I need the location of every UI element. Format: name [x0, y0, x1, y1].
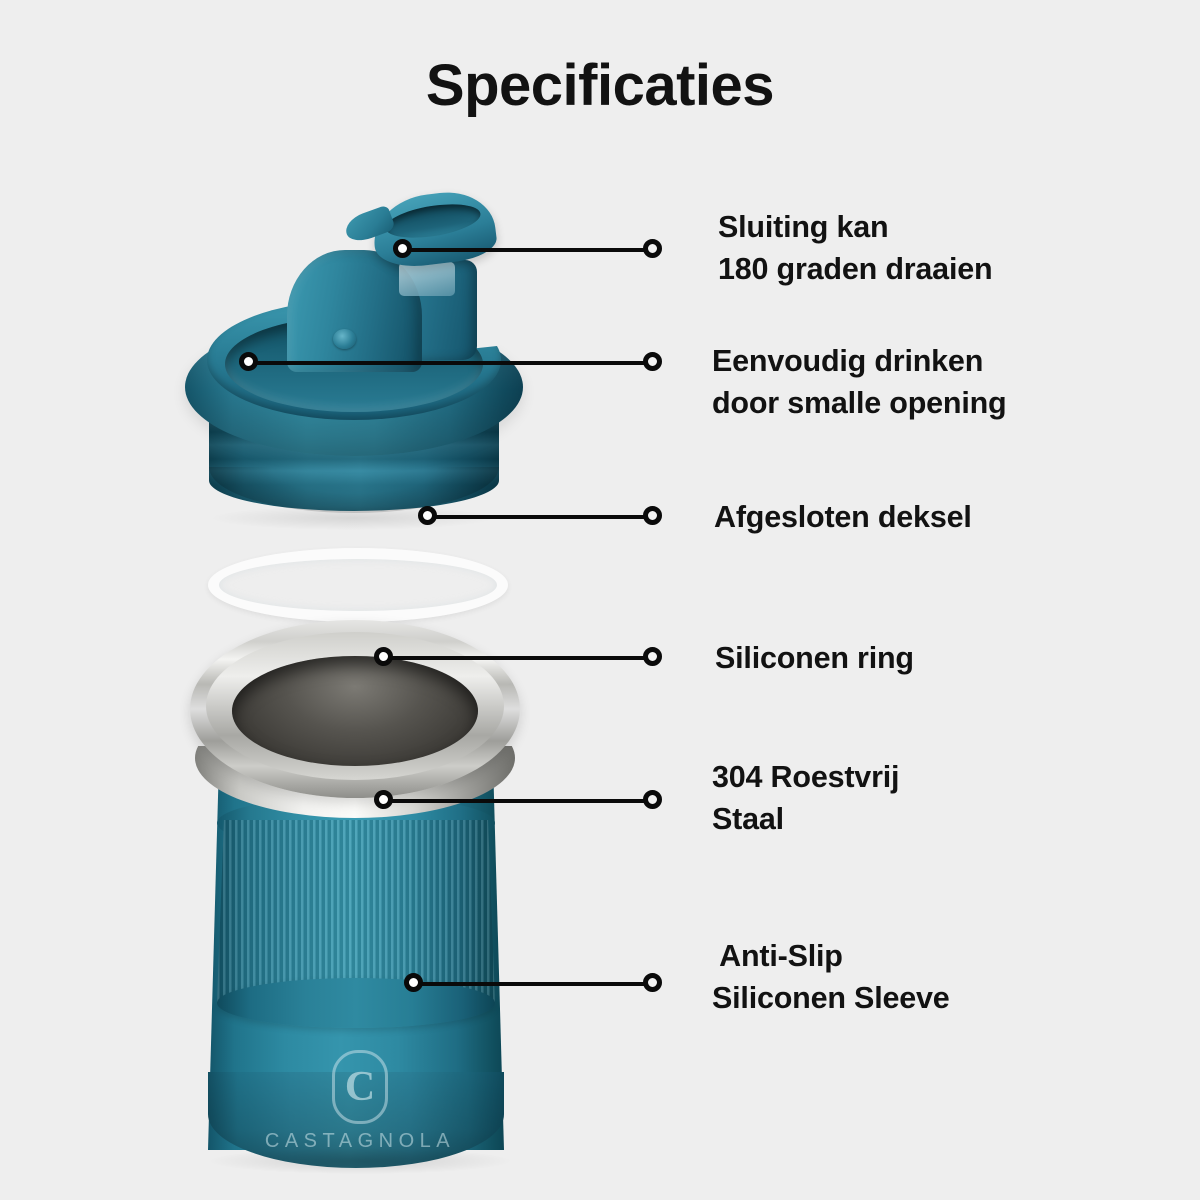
callout-leader-line-anti-slip-sleeve — [411, 982, 652, 986]
callout-leader-line-easy-drinking — [248, 361, 652, 365]
callout-label-line1-silicone-ring: Siliconen ring — [715, 637, 914, 679]
callout-label-line2-anti-slip-sleeve: Siliconen Sleeve — [712, 977, 950, 1019]
callout-label-stainless-steel: 304 RoestvrijStaal — [712, 756, 899, 840]
callout-anchor-dot-rotating-closure — [393, 239, 412, 258]
anti-slip-sleeve — [217, 820, 495, 1002]
callout-label-anti-slip-sleeve: Anti-SlipSiliconen Sleeve — [712, 935, 950, 1019]
silicone-ring — [208, 548, 508, 622]
infographic-canvas: Specificaties — [0, 0, 1200, 1200]
callout-anchor-dot-stainless-steel — [374, 790, 393, 809]
callout-end-dot-easy-drinking — [643, 352, 662, 371]
callout-anchor-dot-easy-drinking — [239, 352, 258, 371]
callout-label-line2-stainless-steel: Staal — [712, 798, 899, 840]
callout-label-line2-rotating-closure: 180 graden draaien — [718, 248, 992, 290]
callout-label-easy-drinking: Eenvoudig drinkendoor smalle opening — [712, 340, 1006, 424]
callout-end-dot-stainless-steel — [643, 790, 662, 809]
callout-label-silicone-ring: Siliconen ring — [715, 637, 914, 679]
callout-end-dot-anti-slip-sleeve — [643, 973, 662, 992]
callout-anchor-dot-silicone-ring — [374, 647, 393, 666]
lid-pivot-stud — [333, 329, 356, 349]
callout-label-line2-easy-drinking: door smalle opening — [712, 382, 1006, 424]
cup-drop-shadow — [210, 1148, 510, 1174]
callout-leader-line-silicone-ring — [381, 656, 652, 660]
callout-end-dot-rotating-closure — [643, 239, 662, 258]
callout-label-line1-easy-drinking: Eenvoudig drinken — [712, 340, 1006, 382]
callout-label-sealed-lid: Afgesloten deksel — [714, 496, 972, 538]
callout-end-dot-silicone-ring — [643, 647, 662, 666]
lid-insert-window — [399, 262, 455, 296]
callout-leader-line-sealed-lid — [425, 515, 652, 519]
callout-label-rotating-closure: Sluiting kan180 graden draaien — [718, 206, 992, 290]
callout-anchor-dot-sealed-lid — [418, 506, 437, 525]
callout-label-line1-sealed-lid: Afgesloten deksel — [714, 496, 972, 538]
callout-leader-line-rotating-closure — [400, 248, 652, 252]
callout-label-line1-rotating-closure: Sluiting kan — [718, 206, 992, 248]
cup-assembly: C CASTAGNOLA — [190, 620, 530, 1170]
callout-label-line1-anti-slip-sleeve: Anti-Slip — [712, 935, 950, 977]
page-title: Specificaties — [0, 56, 1200, 117]
callout-leader-line-stainless-steel — [381, 799, 652, 803]
cup-interior-cavity — [232, 656, 478, 766]
callout-anchor-dot-anti-slip-sleeve — [404, 973, 423, 992]
callout-end-dot-sealed-lid — [643, 506, 662, 525]
callout-label-line1-stainless-steel: 304 Roestvrij — [712, 756, 899, 798]
